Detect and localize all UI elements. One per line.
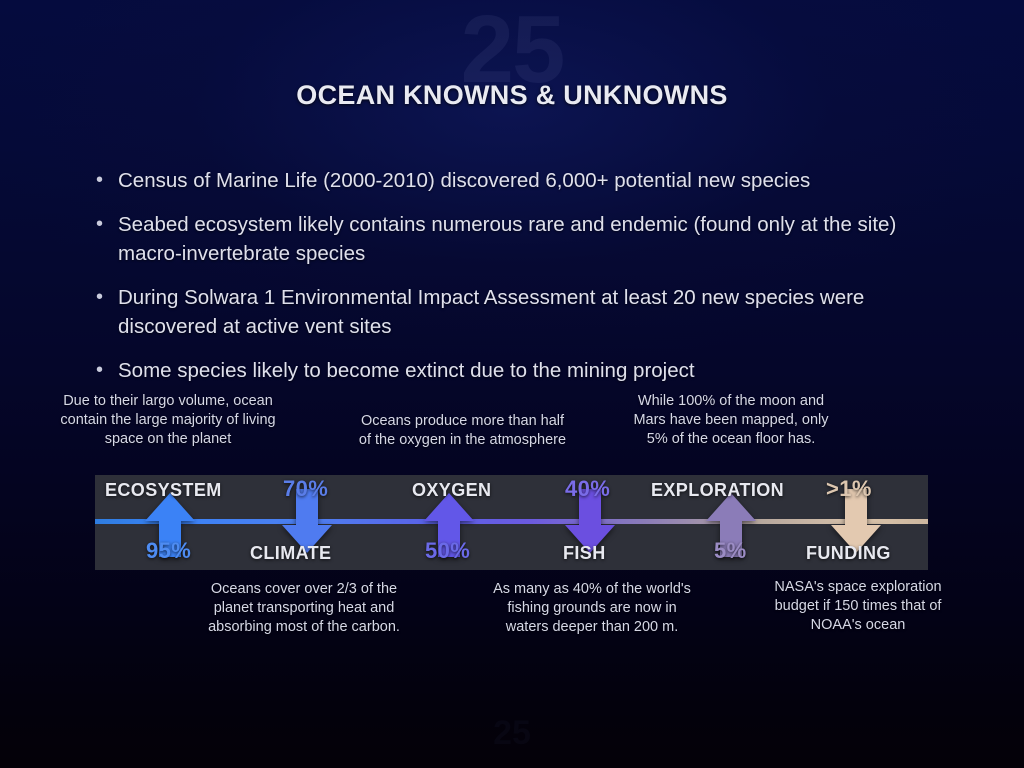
list-item-text: Some species likely to become extinct du…: [118, 356, 948, 385]
node-percent-exploration: 5%: [714, 538, 747, 564]
node-percent-funding: >1%: [826, 476, 872, 502]
node-label-exploration: EXPLORATION: [651, 480, 784, 501]
node-percent-climate: 70%: [283, 476, 328, 502]
caption-ecosystem: Due to their largo volume, ocean contain…: [60, 392, 276, 449]
caption-fish: As many as 40% of the world's fishing gr…: [487, 580, 697, 637]
caption-climate: Oceans cover over 2/3 of the planet tran…: [198, 580, 410, 637]
band-lower-half: [95, 523, 928, 570]
gradient-axis-line: [95, 519, 928, 524]
list-item-text: During Solwara 1 Environmental Impact As…: [118, 283, 948, 341]
page-title: OCEAN KNOWNS & UNKNOWNS: [0, 80, 1024, 111]
node-label-funding: FUNDING: [806, 543, 891, 564]
node-label-ecosystem: ECOSYSTEM: [105, 480, 222, 501]
bullet-marker-icon: •: [92, 166, 118, 194]
node-percent-oxygen: 50%: [425, 538, 470, 564]
caption-funding: NASA's space exploration budget if 150 t…: [752, 578, 964, 635]
page-number: 25: [0, 716, 1024, 750]
bullet-list: • Census of Marine Life (2000-2010) disc…: [92, 166, 948, 400]
node-label-climate: CLIMATE: [250, 543, 331, 564]
caption-oxygen: Oceans produce more than half of the oxy…: [355, 412, 570, 450]
list-item-text: Seabed ecosystem likely contains numerou…: [118, 210, 948, 268]
bullet-marker-icon: •: [92, 210, 118, 238]
list-item: • Some species likely to become extinct …: [92, 356, 948, 385]
node-label-oxygen: OXYGEN: [412, 480, 491, 501]
node-label-fish: FISH: [563, 543, 606, 564]
caption-exploration: While 100% of the moon and Mars have bee…: [626, 392, 836, 449]
list-item: • Census of Marine Life (2000-2010) disc…: [92, 166, 948, 195]
list-item-text: Census of Marine Life (2000-2010) discov…: [118, 166, 948, 195]
ocean-statistics-infographic: Due to their largo volume, ocean contain…: [0, 392, 1024, 672]
bullet-marker-icon: •: [92, 356, 118, 384]
list-item: • During Solwara 1 Environmental Impact …: [92, 283, 948, 341]
node-percent-fish: 40%: [565, 476, 610, 502]
statistics-band: ECOSYSTEM 70% OXYGEN 40% EXPLORATION >1%…: [95, 475, 928, 570]
node-percent-ecosystem: 95%: [146, 538, 191, 564]
bullet-marker-icon: •: [92, 283, 118, 311]
list-item: • Seabed ecosystem likely contains numer…: [92, 210, 948, 268]
slide-canvas: 25 OCEAN KNOWNS & UNKNOWNS • Census of M…: [0, 0, 1024, 768]
